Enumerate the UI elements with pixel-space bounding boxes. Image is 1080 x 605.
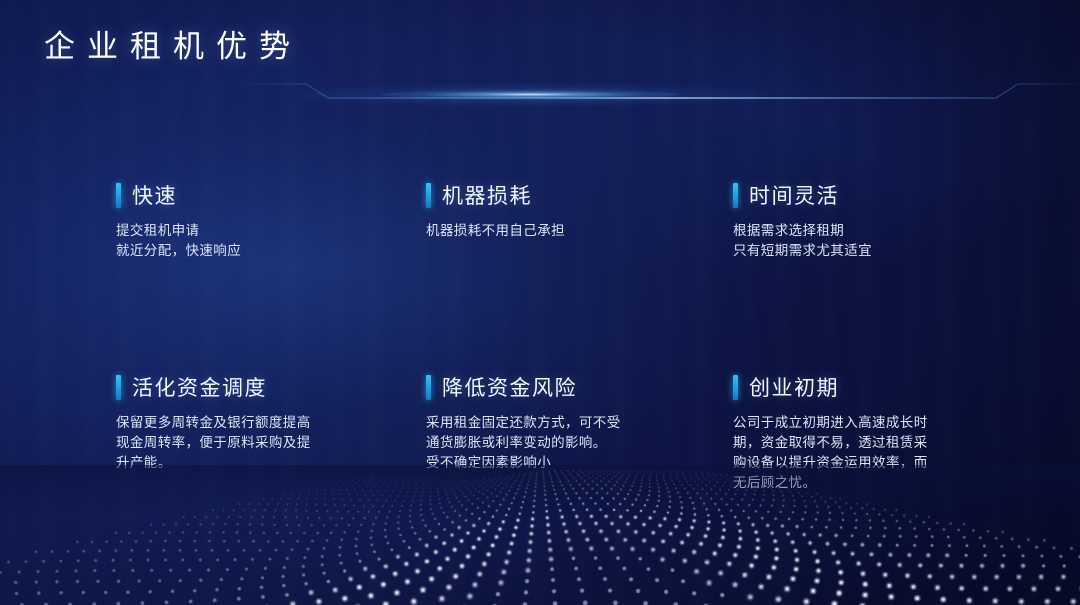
feature-title: 创业初期 — [749, 372, 839, 402]
feature-body: 提交租机申请 就近分配，快速响应 — [116, 221, 416, 261]
feature-title: 降低资金风险 — [442, 372, 577, 402]
feature-card-header: 活化资金调度 — [116, 372, 416, 402]
feature-card-header: 机器损耗 — [426, 180, 726, 210]
feature-body: 根据需求选择租期 只有短期需求尤其适宜 — [733, 221, 1033, 261]
feature-card-header: 创业初期 — [733, 372, 1033, 402]
accent-bar-icon — [426, 183, 431, 208]
feature-grid: 快速 提交租机申请 就近分配，快速响应 机器损耗 机器损耗不用自己承担 时间灵活… — [0, 0, 1080, 605]
feature-card-header: 快速 — [116, 180, 416, 210]
accent-bar-icon — [733, 183, 738, 208]
feature-body: 公司于成立初期进入高速成长时 期，资金取得不易，透过租赁采 购设备以提升资金运用… — [733, 413, 1033, 493]
feature-title: 机器损耗 — [442, 180, 532, 210]
feature-card-4: 活化资金调度 保留更多周转金及银行额度提高 现金周转率，便于原料采购及提 升产能… — [116, 372, 416, 473]
feature-body: 机器损耗不用自己承担 — [426, 221, 726, 241]
feature-card-6: 创业初期 公司于成立初期进入高速成长时 期，资金取得不易，透过租赁采 购设备以提… — [733, 372, 1033, 493]
feature-card-header: 时间灵活 — [733, 180, 1033, 210]
accent-bar-icon — [116, 375, 121, 400]
feature-body: 采用租金固定还款方式，可不受 通货膨胀或利率变动的影响。 受不确定因素影响小 — [426, 413, 726, 473]
accent-bar-icon — [426, 375, 431, 400]
slide-canvas: 企业租机优势 快速 提交租机申请 就近分配，快速响应 — [0, 0, 1080, 605]
feature-card-2: 机器损耗 机器损耗不用自己承担 — [426, 180, 726, 241]
feature-card-1: 快速 提交租机申请 就近分配，快速响应 — [116, 180, 416, 261]
feature-card-3: 时间灵活 根据需求选择租期 只有短期需求尤其适宜 — [733, 180, 1033, 261]
feature-card-5: 降低资金风险 采用租金固定还款方式，可不受 通货膨胀或利率变动的影响。 受不确定… — [426, 372, 726, 473]
feature-body: 保留更多周转金及银行额度提高 现金周转率，便于原料采购及提 升产能。 — [116, 413, 416, 473]
feature-title: 时间灵活 — [749, 180, 839, 210]
feature-card-header: 降低资金风险 — [426, 372, 726, 402]
feature-title: 快速 — [132, 180, 177, 210]
feature-title: 活化资金调度 — [132, 372, 267, 402]
accent-bar-icon — [733, 375, 738, 400]
accent-bar-icon — [116, 183, 121, 208]
